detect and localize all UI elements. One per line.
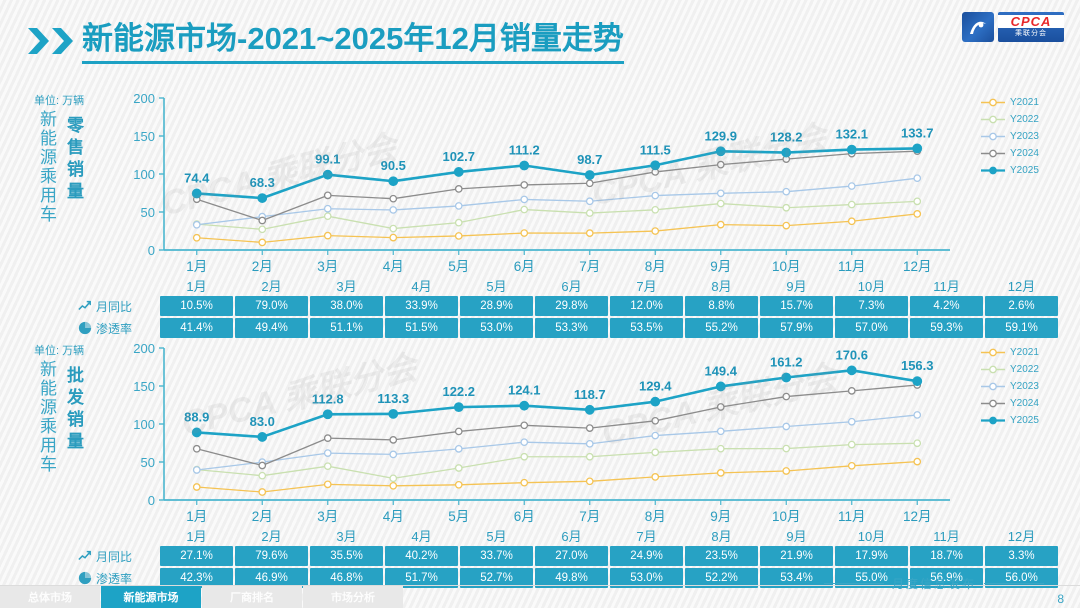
svg-text:68.3: 68.3 bbox=[250, 175, 275, 190]
svg-text:12月: 12月 bbox=[903, 259, 932, 274]
svg-text:200: 200 bbox=[133, 341, 155, 356]
page-footer: 总体市场新能源市场厂商排名市场分析 月度信息发布 8 bbox=[0, 578, 1080, 608]
svg-text:133.7: 133.7 bbox=[901, 125, 934, 140]
svg-text:161.2: 161.2 bbox=[770, 354, 803, 369]
svg-text:129.9: 129.9 bbox=[704, 128, 737, 143]
table-cell: 21.9% bbox=[760, 546, 833, 566]
svg-text:113.3: 113.3 bbox=[377, 391, 409, 406]
table-month-header-cell: 3月 bbox=[310, 274, 383, 296]
table-month-header-cell: 7月 bbox=[610, 274, 683, 296]
legend-label: Y2024 bbox=[1010, 148, 1039, 159]
svg-text:170.6: 170.6 bbox=[835, 347, 868, 362]
svg-text:3月: 3月 bbox=[317, 259, 338, 274]
legend-label: Y2024 bbox=[1010, 398, 1039, 409]
table-cell: 27.1% bbox=[160, 546, 233, 566]
legend-label: Y2022 bbox=[1010, 364, 1039, 375]
svg-text:6月: 6月 bbox=[514, 509, 535, 524]
chart-retail: 0501001502001月2月3月4月5月6月7月8月9月10月11月12月7… bbox=[118, 88, 958, 278]
table-row: 月同比10.5%79.0%38.0%33.9%28.9%29.8%12.0%8.… bbox=[76, 296, 1058, 316]
page-header: 新能源市场-2021~2025年12月销量走势 CPCA 乘联分会 bbox=[0, 0, 1080, 82]
table-cell: 7.3% bbox=[835, 296, 908, 316]
slide-page: 新能源市场-2021~2025年12月销量走势 CPCA 乘联分会 单位: 万辆… bbox=[0, 0, 1080, 608]
svg-text:10月: 10月 bbox=[772, 259, 801, 274]
svg-text:88.9: 88.9 bbox=[184, 409, 209, 424]
legend-item-y2025[interactable]: Y2025 bbox=[980, 412, 1076, 429]
legend-label: Y2023 bbox=[1010, 381, 1039, 392]
legend-label: Y2023 bbox=[1010, 131, 1039, 142]
table-cell: 4.2% bbox=[910, 296, 983, 316]
table-cell: 29.8% bbox=[535, 296, 608, 316]
table-cell: 40.2% bbox=[385, 546, 458, 566]
svg-text:7月: 7月 bbox=[579, 259, 600, 274]
svg-text:5月: 5月 bbox=[448, 509, 469, 524]
legend-wholesale: Y2021Y2022Y2023Y2024Y2025 bbox=[980, 344, 1076, 429]
svg-text:150: 150 bbox=[133, 379, 155, 394]
table-month-header-cell: 10月 bbox=[835, 524, 908, 546]
legend-item-y2022[interactable]: Y2022 bbox=[980, 111, 1076, 128]
svg-text:0: 0 bbox=[148, 243, 155, 258]
legend-swatch-icon bbox=[980, 114, 1006, 125]
cpca-logo-subtitle: 乘联分会 bbox=[1015, 28, 1047, 40]
legend-label: Y2021 bbox=[1010, 347, 1039, 358]
svg-text:118.7: 118.7 bbox=[574, 387, 606, 402]
svg-text:90.5: 90.5 bbox=[381, 158, 406, 173]
table-cell: 23.5% bbox=[685, 546, 758, 566]
table-month-header-cell: 4月 bbox=[385, 274, 458, 296]
table-month-header-cell: 2月 bbox=[235, 274, 308, 296]
svg-text:9月: 9月 bbox=[710, 509, 731, 524]
chart-wholesale-svg: 0501001502001月2月3月4月5月6月7月8月9月10月11月12月8… bbox=[118, 338, 958, 528]
svg-text:99.1: 99.1 bbox=[315, 152, 340, 167]
table-month-header-cell: 9月 bbox=[760, 274, 833, 296]
svg-text:200: 200 bbox=[133, 91, 155, 106]
svg-text:8月: 8月 bbox=[645, 509, 666, 524]
legend-item-y2024[interactable]: Y2024 bbox=[980, 395, 1076, 412]
svg-text:6月: 6月 bbox=[514, 259, 535, 274]
pie-chart-icon bbox=[78, 321, 92, 335]
legend-label: Y2021 bbox=[1010, 97, 1039, 108]
table-month-header-cell: 11月 bbox=[910, 524, 983, 546]
footer-line-left bbox=[824, 583, 884, 584]
footer-text: 月度信息发布 bbox=[892, 575, 976, 592]
svg-text:128.2: 128.2 bbox=[770, 130, 803, 145]
unit-label-wholesale: 单位: 万辆 bbox=[34, 342, 84, 358]
table-cell: 8.8% bbox=[685, 296, 758, 316]
legend-item-y2023[interactable]: Y2023 bbox=[980, 378, 1076, 395]
table-retail: 1月2月3月4月5月6月7月8月9月10月11月12月 月同比10.5%79.0… bbox=[76, 274, 1058, 340]
cpca-logo-mark bbox=[962, 12, 994, 42]
table-month-header-cell: 7月 bbox=[610, 524, 683, 546]
table-cell: 18.7% bbox=[910, 546, 983, 566]
table-month-header-cell: 4月 bbox=[385, 524, 458, 546]
svg-text:5月: 5月 bbox=[448, 259, 469, 274]
table-cell: 3.3% bbox=[985, 546, 1058, 566]
svg-text:83.0: 83.0 bbox=[250, 414, 275, 429]
svg-text:2月: 2月 bbox=[252, 259, 273, 274]
table-month-header-cell: 2月 bbox=[235, 524, 308, 546]
svg-text:12月: 12月 bbox=[903, 509, 932, 524]
unit-label-retail: 单位: 万辆 bbox=[34, 92, 84, 108]
svg-text:50: 50 bbox=[141, 205, 155, 220]
svg-text:3月: 3月 bbox=[317, 509, 338, 524]
table-month-header-cell: 11月 bbox=[910, 274, 983, 296]
legend-swatch-icon bbox=[980, 398, 1006, 409]
table-cell: 38.0% bbox=[310, 296, 383, 316]
svg-text:2月: 2月 bbox=[252, 509, 273, 524]
table-month-header-cell: 6月 bbox=[535, 524, 608, 546]
chart-wholesale: 0501001502001月2月3月4月5月6月7月8月9月10月11月12月8… bbox=[118, 338, 958, 528]
svg-text:150: 150 bbox=[133, 129, 155, 144]
svg-text:11月: 11月 bbox=[838, 259, 866, 274]
legend-label: Y2025 bbox=[1010, 415, 1039, 426]
table-row-label: 月同比 bbox=[96, 298, 132, 315]
svg-text:111.5: 111.5 bbox=[640, 142, 671, 157]
legend-swatch-icon bbox=[980, 148, 1006, 159]
table-month-header-cell: 1月 bbox=[160, 524, 233, 546]
svg-text:11月: 11月 bbox=[838, 509, 866, 524]
table-cell: 15.7% bbox=[760, 296, 833, 316]
table-cell: 28.9% bbox=[460, 296, 533, 316]
svg-text:129.4: 129.4 bbox=[639, 379, 672, 394]
footer-center: 月度信息发布 bbox=[824, 575, 1044, 592]
footer-tab-2[interactable]: 厂商排名 bbox=[202, 586, 302, 608]
table-month-header-cell: 3月 bbox=[310, 524, 383, 546]
table-row: 月同比27.1%79.6%35.5%40.2%33.7%27.0%24.9%23… bbox=[76, 546, 1058, 566]
metric-label-retail: 零售销量 bbox=[63, 116, 83, 204]
legend-swatch-icon bbox=[980, 131, 1006, 142]
legend-label: Y2022 bbox=[1010, 114, 1039, 125]
legend-swatch-icon bbox=[980, 364, 1006, 375]
page-title: 新能源市场-2021~2025年12月销量走势 bbox=[82, 19, 624, 64]
table-month-header-cell: 8月 bbox=[685, 274, 758, 296]
table-month-header-cell: 9月 bbox=[760, 524, 833, 546]
table-row-header: 月同比 bbox=[76, 296, 160, 316]
table-retail-month-header: 1月2月3月4月5月6月7月8月9月10月11月12月 bbox=[76, 274, 1058, 296]
svg-text:10月: 10月 bbox=[772, 509, 801, 524]
legend-label: Y2025 bbox=[1010, 165, 1039, 176]
line-chart-icon bbox=[78, 299, 92, 313]
svg-text:1月: 1月 bbox=[186, 509, 207, 524]
panel-retail: 单位: 万辆 新能源乘用车 零售销量 0501001502001月2月3月4月5… bbox=[0, 84, 1080, 332]
table-month-header-cell: 10月 bbox=[835, 274, 908, 296]
legend-swatch-icon bbox=[980, 347, 1006, 358]
table-month-header-cell: 5月 bbox=[460, 274, 533, 296]
table-cell: 79.0% bbox=[235, 296, 308, 316]
table-cell: 35.5% bbox=[310, 546, 383, 566]
chart-retail-svg: 0501001502001月2月3月4月5月6月7月8月9月10月11月12月7… bbox=[118, 88, 958, 278]
table-month-header-cell: 5月 bbox=[460, 524, 533, 546]
table-cell: 17.9% bbox=[835, 546, 908, 566]
legend-swatch-icon bbox=[980, 165, 1006, 176]
table-cell: 2.6% bbox=[985, 296, 1058, 316]
cpca-logo: CPCA 乘联分会 bbox=[962, 10, 1066, 44]
table-cell: 27.0% bbox=[535, 546, 608, 566]
svg-text:4月: 4月 bbox=[383, 509, 404, 524]
svg-text:50: 50 bbox=[141, 455, 155, 470]
svg-text:0: 0 bbox=[148, 493, 155, 508]
legend-item-y2021[interactable]: Y2021 bbox=[980, 344, 1076, 361]
table-cell: 33.9% bbox=[385, 296, 458, 316]
svg-text:4月: 4月 bbox=[383, 259, 404, 274]
page-title-text: 新能源市场-2021~2025年12月销量走势 bbox=[82, 19, 624, 59]
svg-text:122.2: 122.2 bbox=[442, 384, 475, 399]
svg-text:100: 100 bbox=[133, 417, 155, 432]
svg-text:9月: 9月 bbox=[710, 259, 731, 274]
table-month-header-cell: 8月 bbox=[685, 524, 758, 546]
legend-swatch-icon bbox=[980, 381, 1006, 392]
table-cell: 24.9% bbox=[610, 546, 683, 566]
legend-item-y2021[interactable]: Y2021 bbox=[980, 94, 1076, 111]
table-wholesale-month-header: 1月2月3月4月5月6月7月8月9月10月11月12月 bbox=[76, 524, 1058, 546]
metric-label-wholesale: 批发销量 bbox=[63, 366, 83, 454]
legend-swatch-icon bbox=[980, 415, 1006, 426]
footer-tabs[interactable]: 总体市场新能源市场厂商排名市场分析 bbox=[0, 586, 404, 608]
legend-retail: Y2021Y2022Y2023Y2024Y2025 bbox=[980, 94, 1076, 179]
page-number: 8 bbox=[1057, 592, 1064, 606]
table-row-header: 月同比 bbox=[76, 546, 160, 566]
svg-text:7月: 7月 bbox=[579, 509, 600, 524]
table-month-header-cell: 1月 bbox=[160, 274, 233, 296]
svg-text:112.8: 112.8 bbox=[312, 391, 344, 406]
category-label-wholesale: 新能源乘用车 bbox=[36, 360, 56, 474]
legend-item-y2022[interactable]: Y2022 bbox=[980, 361, 1076, 378]
table-cell: 10.5% bbox=[160, 296, 233, 316]
cpca-logo-name: CPCA bbox=[998, 15, 1064, 28]
category-label-retail: 新能源乘用车 bbox=[36, 110, 56, 224]
table-cell: 33.7% bbox=[460, 546, 533, 566]
double-chevron-right-icon bbox=[28, 26, 74, 56]
table-month-header-cell: 6月 bbox=[535, 274, 608, 296]
svg-text:124.1: 124.1 bbox=[508, 383, 541, 398]
panel-wholesale: 单位: 万辆 新能源乘用车 批发销量 0501001502001月2月3月4月5… bbox=[0, 334, 1080, 582]
footer-tab-1[interactable]: 新能源市场 bbox=[101, 586, 201, 608]
footer-tab-3[interactable]: 市场分析 bbox=[303, 586, 403, 608]
svg-text:74.4: 74.4 bbox=[184, 170, 210, 185]
legend-item-y2024[interactable]: Y2024 bbox=[980, 145, 1076, 162]
svg-text:132.1: 132.1 bbox=[835, 127, 868, 142]
table-month-header-cell: 12月 bbox=[985, 524, 1058, 546]
line-chart-icon bbox=[78, 549, 92, 563]
legend-item-y2025[interactable]: Y2025 bbox=[980, 162, 1076, 179]
svg-text:1月: 1月 bbox=[186, 259, 207, 274]
table-cell: 12.0% bbox=[610, 296, 683, 316]
legend-swatch-icon bbox=[980, 97, 1006, 108]
svg-text:102.7: 102.7 bbox=[442, 149, 475, 164]
svg-text:98.7: 98.7 bbox=[577, 152, 602, 167]
table-row-label: 月同比 bbox=[96, 548, 132, 565]
table-cell: 79.6% bbox=[235, 546, 308, 566]
footer-tab-0[interactable]: 总体市场 bbox=[0, 586, 100, 608]
svg-text:149.4: 149.4 bbox=[704, 363, 737, 378]
table-month-header-cell: 12月 bbox=[985, 274, 1058, 296]
cpca-logo-wordmark: CPCA 乘联分会 bbox=[998, 12, 1064, 42]
legend-item-y2023[interactable]: Y2023 bbox=[980, 128, 1076, 145]
svg-text:111.2: 111.2 bbox=[509, 142, 540, 157]
svg-text:100: 100 bbox=[133, 167, 155, 182]
svg-text:8月: 8月 bbox=[645, 259, 666, 274]
footer-line-right bbox=[984, 583, 1044, 584]
svg-text:156.3: 156.3 bbox=[901, 358, 934, 373]
